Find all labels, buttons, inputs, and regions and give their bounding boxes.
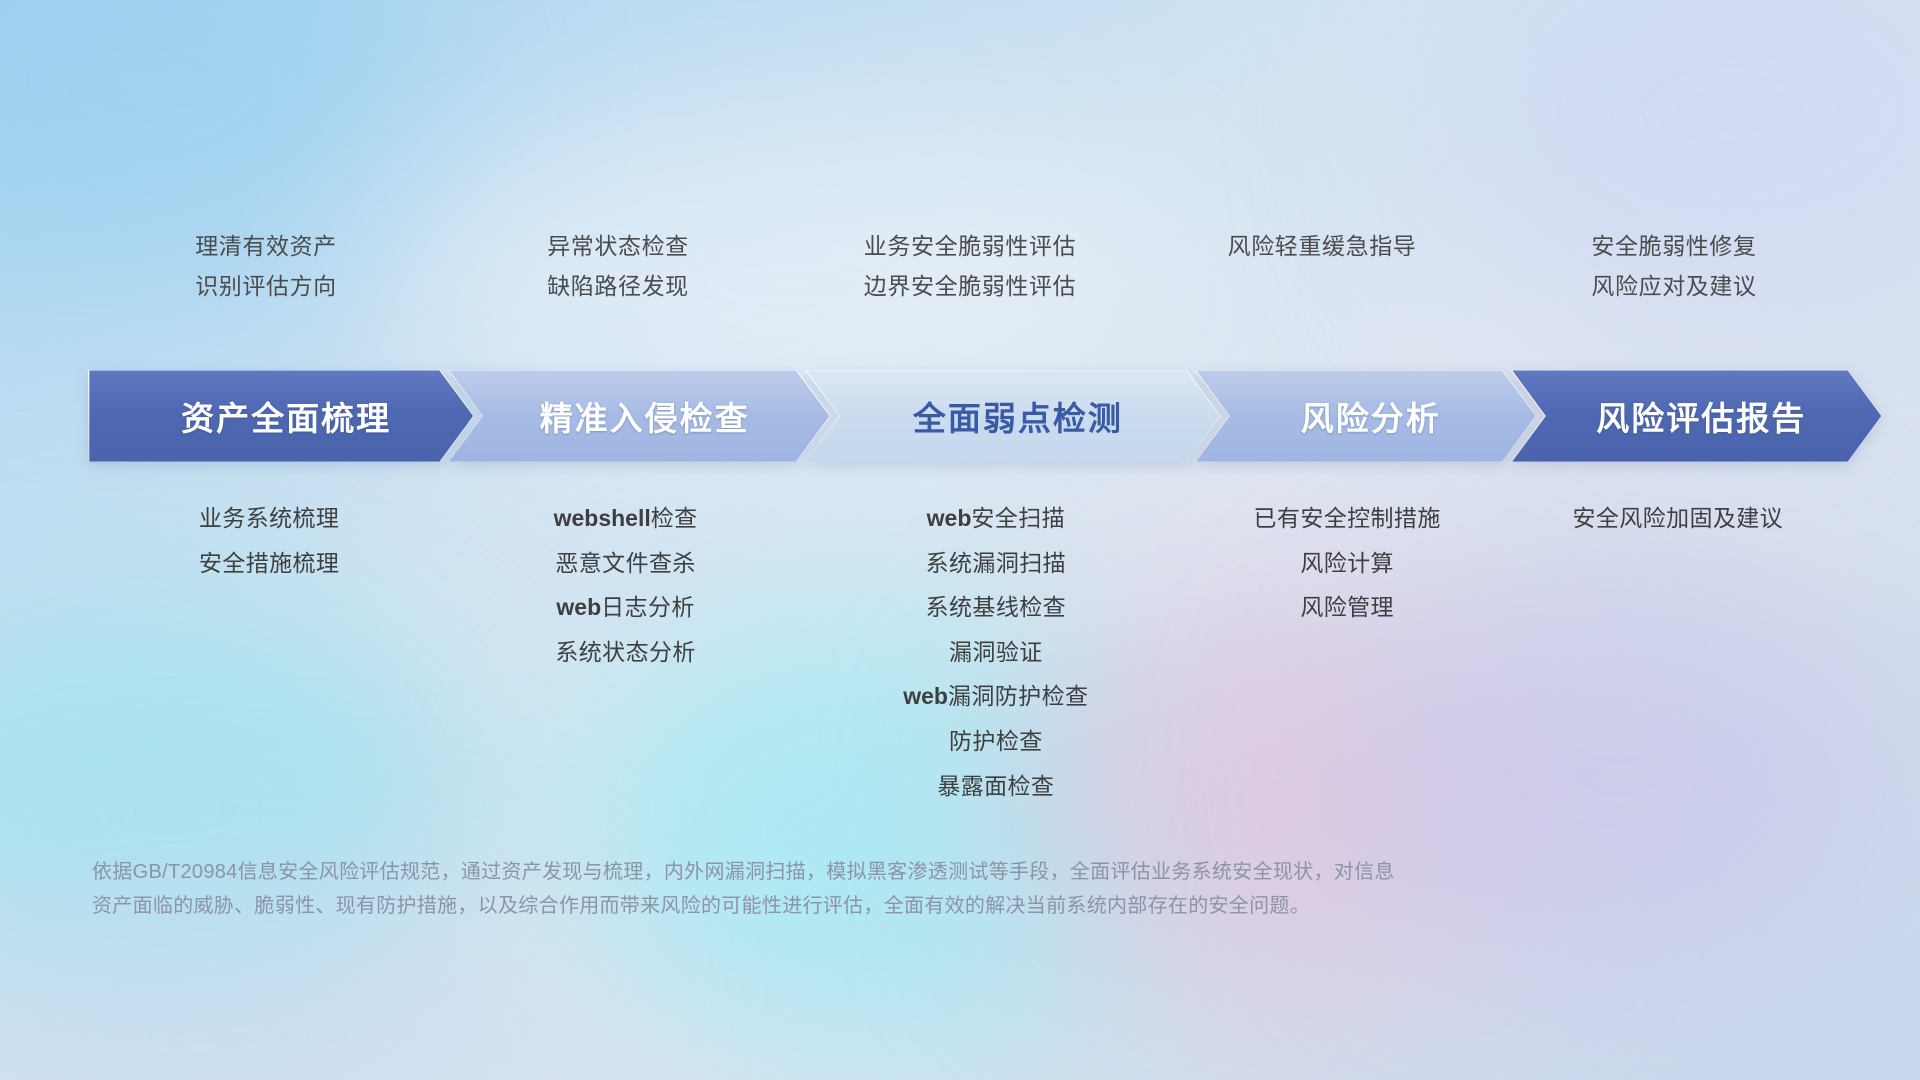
top-outcome-item: 识别评估方向	[195, 272, 337, 301]
footer-line-1: 依据GB/T20984信息安全风险评估规范，通过资产发现与梳理，内外网漏洞扫描，…	[92, 855, 1832, 889]
chevron-title: 风险分析	[1291, 392, 1441, 440]
activity-item: 安全风险加固及建议	[1572, 505, 1783, 533]
activity-item: web日志分析	[556, 594, 694, 622]
chevron-title: 精准入侵检查	[530, 392, 750, 440]
activity-column-weakness-detection: web安全扫描系统漏洞扫描系统基线检查漏洞验证web漏洞防护检查防护检查暴露面检…	[803, 505, 1189, 800]
activity-item: 系统漏洞扫描	[926, 550, 1066, 578]
diagram-content: 理清有效资产识别评估方向异常状态检查缺陷路径发现业务安全脆弱性评估边界安全脆弱性…	[0, 0, 1920, 1080]
bottom-activities-row: 业务系统梳理安全措施梳理webshell检查恶意文件查杀web日志分析系统状态分…	[90, 505, 1850, 800]
footer-description: 依据GB/T20984信息安全风险评估规范，通过资产发现与梳理，内外网漏洞扫描，…	[92, 855, 1832, 924]
activity-item-text: 安全扫描	[971, 505, 1065, 531]
top-outcome-item: 理清有效资产	[195, 232, 337, 261]
top-outcome-column-asset-inventory: 理清有效资产识别评估方向	[90, 232, 442, 332]
activity-item: web安全扫描	[927, 505, 1065, 533]
top-outcome-item: 安全脆弱性修复	[1591, 232, 1756, 261]
activity-column-intrusion-check: webshell检查恶意文件查杀web日志分析系统状态分析	[448, 505, 803, 666]
footer-line-2: 资产面临的威胁、脆弱性、现有防护措施，以及综合作用而带来风险的可能性进行评估，全…	[92, 889, 1832, 923]
top-outcome-column-weakness-detection: 业务安全脆弱性评估边界安全脆弱性评估	[794, 232, 1146, 332]
activity-item: 漏洞验证	[949, 639, 1043, 667]
top-outcome-item: 风险应对及建议	[1591, 272, 1756, 301]
chevron-title: 风险评估报告	[1586, 392, 1806, 440]
activity-item: 系统状态分析	[555, 639, 695, 667]
activity-item-text: 日志分析	[601, 594, 695, 620]
top-outcome-item: 风险轻重缓急指导	[1228, 232, 1417, 261]
activity-item: 防护检查	[949, 728, 1043, 756]
activity-item: 业务系统梳理	[199, 505, 339, 533]
activity-column-risk-analysis: 已有安全控制措施风险计算风险管理	[1189, 505, 1506, 622]
chevron-stage-risk-report[interactable]: 风险评估报告	[1511, 370, 1882, 462]
slide-canvas: 理清有效资产识别评估方向异常状态检查缺陷路径发现业务安全脆弱性评估边界安全脆弱性…	[0, 0, 1920, 1080]
activity-item: webshell检查	[554, 505, 698, 533]
activity-item: 安全措施梳理	[199, 550, 339, 578]
chevron-stage-intrusion-check[interactable]: 精准入侵检查	[448, 370, 831, 462]
chevron-stage-weakness-detection[interactable]: 全面弱点检测	[805, 370, 1221, 462]
activity-item: 风险计算	[1300, 550, 1394, 578]
chevron-stage-asset-inventory[interactable]: 资产全面梳理	[88, 370, 474, 462]
chevron-stage-risk-analysis[interactable]: 风险分析	[1195, 370, 1537, 462]
top-outcome-column-risk-analysis: 风险轻重缓急指导	[1146, 232, 1498, 332]
activity-item-latin: webshell	[554, 505, 651, 531]
activity-item-latin: web	[927, 505, 972, 531]
top-outcome-column-risk-report: 安全脆弱性修复风险应对及建议	[1498, 232, 1850, 332]
top-outcome-item: 边界安全脆弱性评估	[864, 272, 1076, 301]
top-outcome-item: 异常状态检查	[547, 232, 689, 261]
activity-item: 暴露面检查	[937, 773, 1054, 801]
process-chevron-banner: 资产全面梳理精准入侵检查全面弱点检测风险分析风险评估报告	[88, 370, 1856, 462]
activity-column-risk-report: 安全风险加固及建议	[1506, 505, 1850, 533]
top-outcome-item: 业务安全脆弱性评估	[864, 232, 1076, 261]
activity-item-latin: web	[903, 683, 948, 709]
activity-column-asset-inventory: 业务系统梳理安全措施梳理	[90, 505, 448, 577]
activity-item: 风险管理	[1300, 594, 1394, 622]
activity-item: web漏洞防护检查	[903, 683, 1088, 711]
activity-item-latin: web	[556, 594, 601, 620]
activity-item-text: 检查	[651, 505, 698, 531]
activity-item: 恶意文件查杀	[555, 550, 695, 578]
top-outcomes-row: 理清有效资产识别评估方向异常状态检查缺陷路径发现业务安全脆弱性评估边界安全脆弱性…	[90, 232, 1850, 332]
top-outcome-item: 缺陷路径发现	[547, 272, 689, 301]
top-outcome-column-intrusion-check: 异常状态检查缺陷路径发现	[442, 232, 794, 332]
activity-item: 已有安全控制措施	[1254, 505, 1441, 533]
chevron-title: 资产全面梳理	[171, 392, 391, 440]
activity-item-text: 漏洞防护检查	[948, 683, 1088, 709]
activity-item: 系统基线检查	[926, 594, 1066, 622]
chevron-title: 全面弱点检测	[903, 392, 1123, 440]
